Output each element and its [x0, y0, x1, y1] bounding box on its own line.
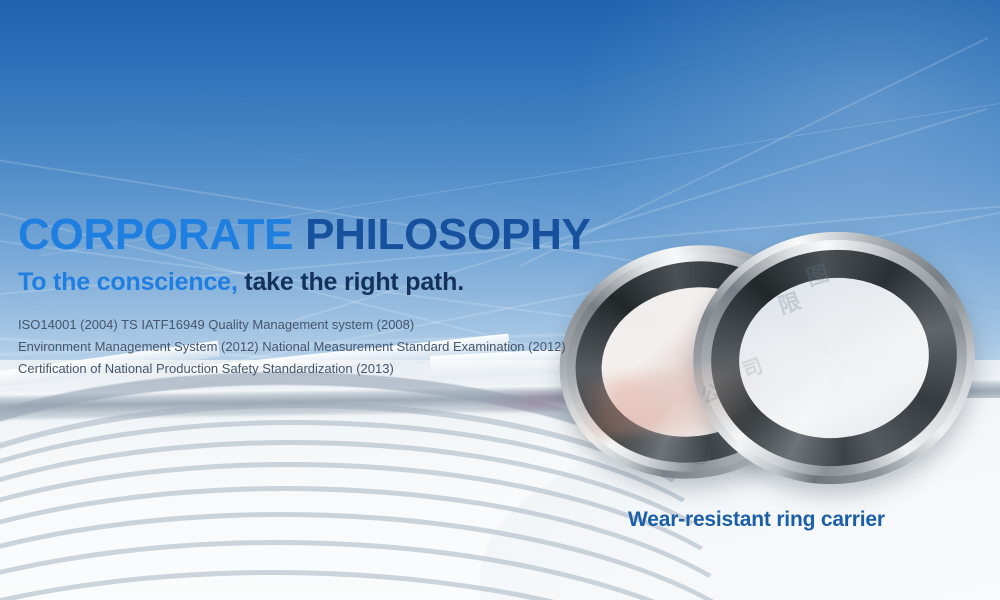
page-subtitle: To the conscience, take the right path. — [18, 266, 638, 298]
headline-copy-block: CORPORATE PHILOSOPHY To the conscience, … — [18, 210, 638, 380]
headline-part-corporate: CORPORATE — [18, 210, 293, 259]
certification-line-2: Environment Management System (2012) Nat… — [18, 336, 638, 358]
subtitle-part-right-path: take the right path. — [238, 268, 464, 296]
certifications-list: ISO14001 (2004) TS IATF16949 Quality Man… — [18, 314, 638, 380]
product-caption: Wear-resistant ring carrier — [628, 508, 885, 532]
headline-part-philosophy: PHILOSOPHY — [293, 210, 590, 259]
corporate-philosophy-banner: 图 限 公 司 CORPORATE PHILOSOPHY To the cons… — [0, 0, 1000, 600]
certification-line-1: ISO14001 (2004) TS IATF16949 Quality Man… — [18, 314, 638, 336]
certification-line-3: Certification of National Production Saf… — [18, 358, 638, 380]
subtitle-part-conscience: To the conscience, — [18, 268, 238, 296]
page-title: CORPORATE PHILOSOPHY — [18, 210, 638, 260]
